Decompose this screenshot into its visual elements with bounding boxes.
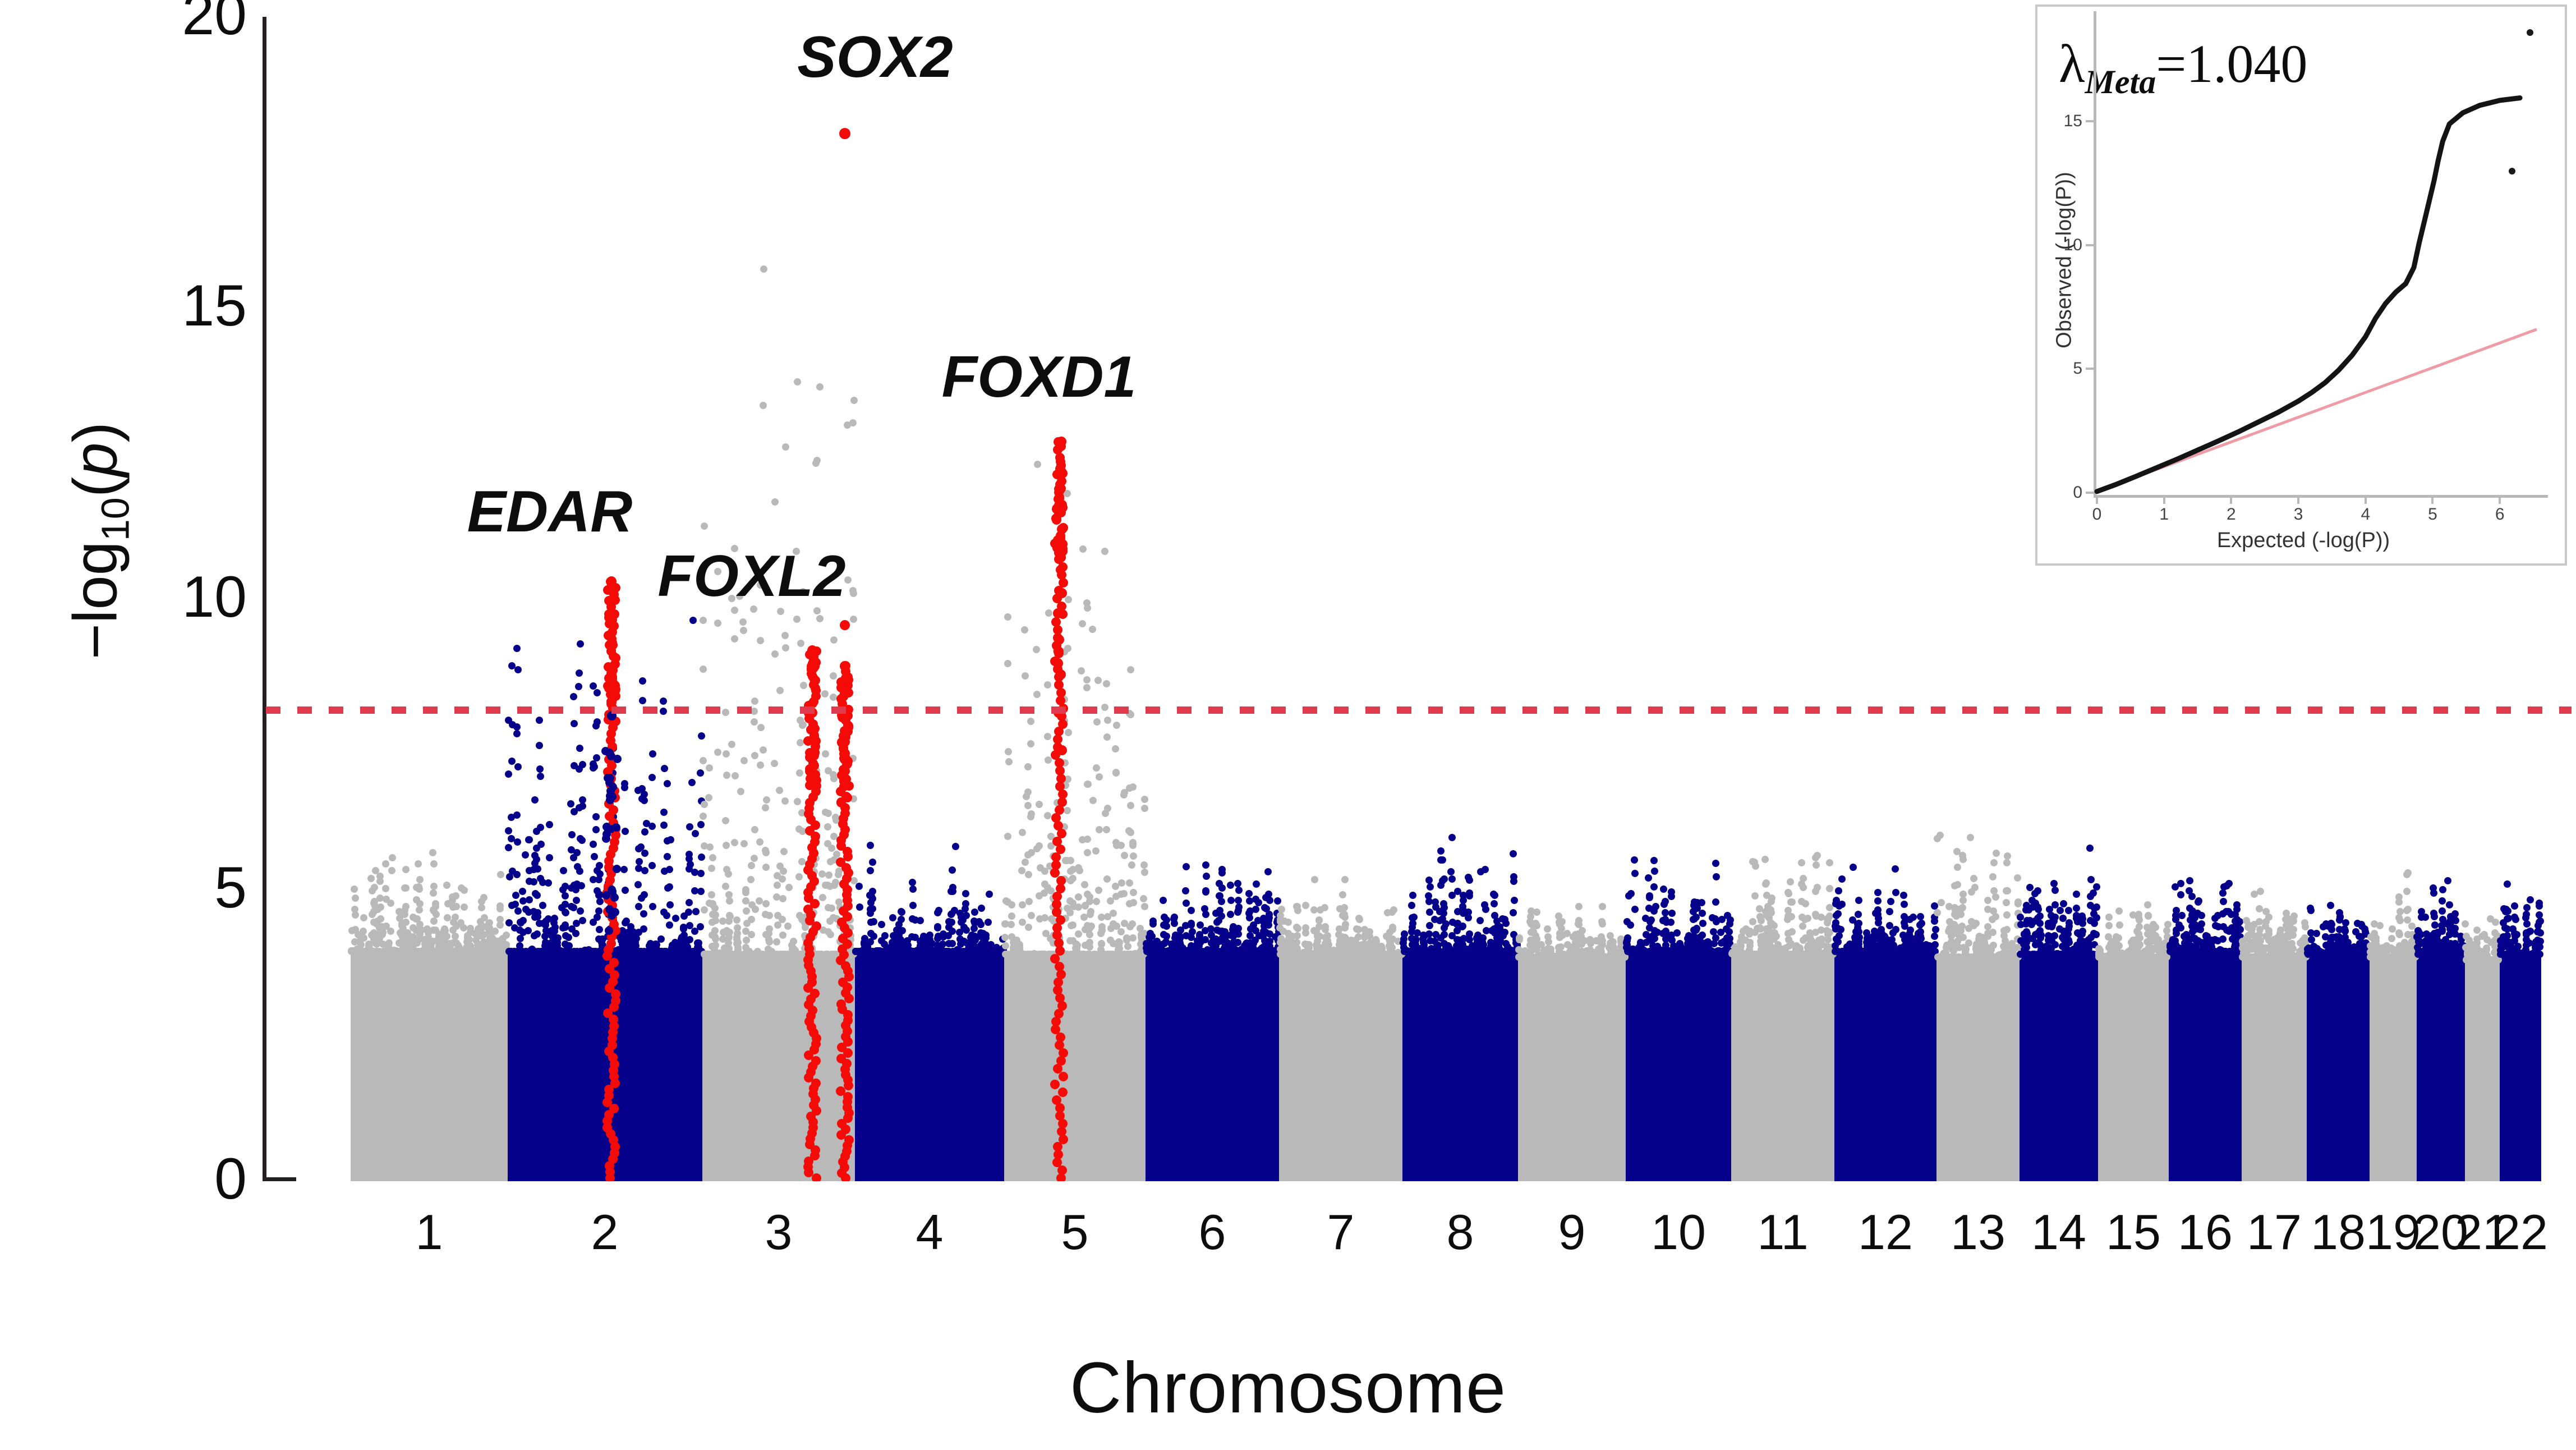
x-tick-label-chr1: 1 <box>416 1208 443 1257</box>
chromosome-band-6 <box>1146 951 1279 1181</box>
chromosome-band-3 <box>702 954 855 1181</box>
chromosome-band-10 <box>1626 951 1731 1181</box>
qq-outlier-point-2 <box>2509 168 2515 175</box>
x-tick-label-chr9: 9 <box>1558 1208 1586 1257</box>
y-axis-title-paren-open: ( <box>61 477 130 498</box>
x-tick-label-chr13: 13 <box>1951 1208 2005 1257</box>
y-axis-title-subscript: 10 <box>94 497 137 541</box>
qq-y-tick-10 <box>2086 244 2095 246</box>
qq-y-tick-label-0: 0 <box>2054 484 2082 501</box>
x-tick-label-chr2: 2 <box>591 1208 619 1257</box>
y-axis-foot-tick <box>263 1177 296 1181</box>
y-axis-line <box>263 17 266 1181</box>
genome-wide-significance-line <box>266 706 2572 714</box>
x-tick-label-chr6: 6 <box>1199 1208 1226 1257</box>
x-tick-label-chr22: 22 <box>2493 1208 2548 1257</box>
chromosome-band-1 <box>351 951 508 1181</box>
x-tick-label-chr3: 3 <box>765 1208 793 1257</box>
x-tick-label-chr11: 11 <box>1757 1208 1808 1257</box>
y-axis-title-paren-close: ) <box>61 422 130 443</box>
x-tick-label-chr7: 7 <box>1327 1208 1355 1257</box>
qq-plot-region: 0123456051015 <box>2097 22 2540 493</box>
qq-x-tick-label-0: 0 <box>2092 506 2102 523</box>
chromosome-band-17 <box>2242 957 2307 1181</box>
lambda-symbol: λ <box>2059 34 2085 94</box>
chromosome-band-19 <box>2370 957 2417 1181</box>
y-tick-label-15: 15 <box>79 277 247 335</box>
qq-y-axis-label: Observed (-log(P)) <box>2053 114 2077 406</box>
chromosome-band-8 <box>1402 951 1518 1181</box>
qq-outlier-point-1 <box>2527 29 2533 36</box>
qq-x-tick-label-2: 2 <box>2227 506 2236 523</box>
qq-y-axis-line <box>2094 11 2096 495</box>
chromosome-band-14 <box>2020 954 2098 1181</box>
x-tick-label-chr18: 18 <box>2311 1208 2366 1257</box>
chromosome-band-9 <box>1518 957 1626 1181</box>
chromosome-band-13 <box>1936 957 2020 1181</box>
y-axis-title-prefix: −log <box>61 541 130 659</box>
qq-x-tick-label-4: 4 <box>2361 506 2370 523</box>
gene-label-edar: EDAR <box>467 483 633 541</box>
qq-observed-curve <box>2097 98 2520 492</box>
chromosome-band-11 <box>1731 954 1834 1181</box>
y-axis-title: −log10(p) <box>60 345 131 737</box>
qq-plot-inset: λMeta=1.040 0123456051015 Expected (-log… <box>2035 4 2567 566</box>
y-tick-label-5: 5 <box>79 859 247 917</box>
y-tick-label-0: 0 <box>79 1150 247 1208</box>
qq-y-tick-5 <box>2086 368 2095 370</box>
gene-label-sox2: SOX2 <box>797 28 953 86</box>
y-tick-label-20: 20 <box>79 0 247 44</box>
chromosome-band-4 <box>855 951 1004 1181</box>
qq-x-tick-label-5: 5 <box>2428 506 2437 523</box>
x-tick-label-chr17: 17 <box>2247 1208 2302 1257</box>
chromosome-band-20 <box>2417 954 2465 1181</box>
qq-x-tick-label-6: 6 <box>2495 506 2505 523</box>
chromosome-band-15 <box>2098 957 2169 1181</box>
qq-y-tick-0 <box>2086 492 2095 494</box>
chromosome-band-21 <box>2465 960 2500 1181</box>
x-tick-label-chr16: 16 <box>2178 1208 2233 1257</box>
chromosome-band-22 <box>2500 954 2541 1181</box>
x-tick-label-chr8: 8 <box>1447 1208 1474 1257</box>
gene-label-foxd1: FOXD1 <box>942 348 1137 406</box>
chromosome-band-5 <box>1004 954 1146 1181</box>
x-tick-label-chr19: 19 <box>2366 1208 2421 1257</box>
chromosome-band-12 <box>1834 951 1936 1181</box>
x-tick-label-chr14: 14 <box>2031 1208 2086 1257</box>
x-axis-title: Chromosome <box>0 1347 2576 1429</box>
x-tick-label-chr10: 10 <box>1651 1208 1706 1257</box>
chromosome-band-7 <box>1279 954 1402 1181</box>
qq-x-axis-label: Expected (-log(P)) <box>2037 529 2569 553</box>
manhattan-figure: 05101520 −log10(p) 123456789101112131415… <box>0 0 2576 1450</box>
x-tick-label-chr12: 12 <box>1858 1208 1913 1257</box>
gene-label-foxl2: FOXL2 <box>657 547 845 605</box>
qq-x-tick-label-3: 3 <box>2294 506 2303 523</box>
x-tick-label-chr15: 15 <box>2106 1208 2161 1257</box>
qq-curve-svg <box>2097 22 2557 498</box>
x-tick-label-chr5: 5 <box>1061 1208 1089 1257</box>
chromosome-band-18 <box>2307 954 2370 1181</box>
qq-x-tick-label-1: 1 <box>2159 506 2169 523</box>
y-axis-title-variable: p <box>61 442 130 476</box>
chromosome-band-16 <box>2169 951 2242 1181</box>
qq-y-tick-15 <box>2086 120 2095 122</box>
x-tick-label-chr4: 4 <box>916 1208 944 1257</box>
